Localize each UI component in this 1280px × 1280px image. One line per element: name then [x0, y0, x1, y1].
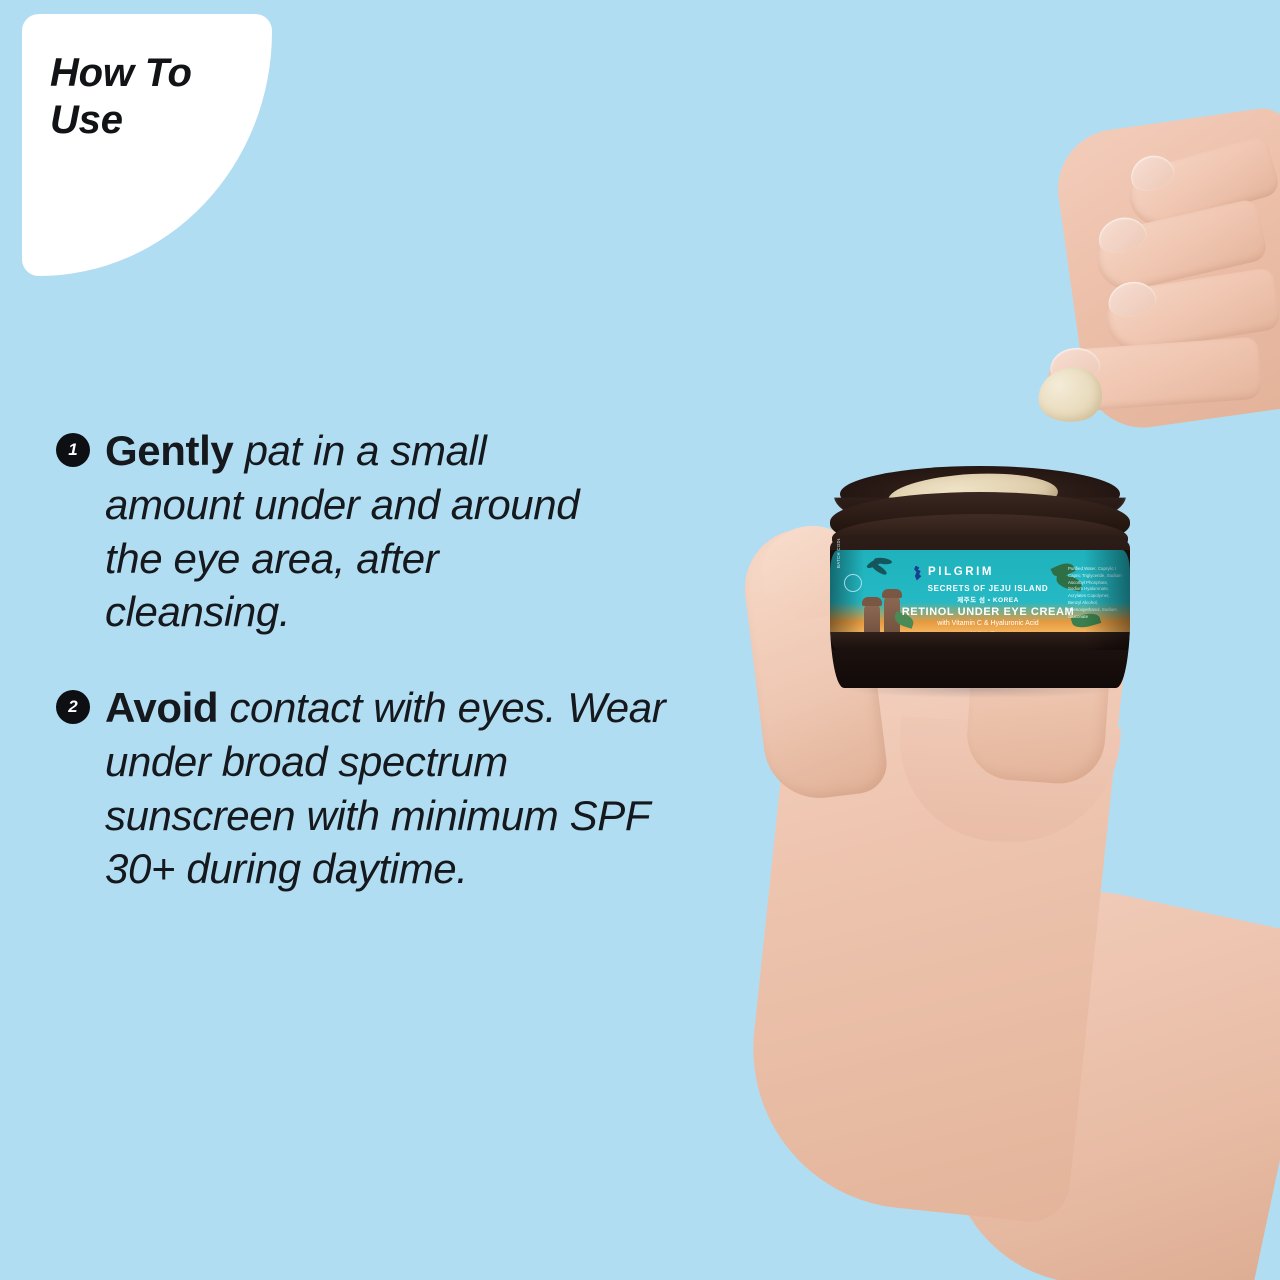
step-text: Gently pat in a small amount under and a… [105, 424, 610, 639]
instruction-step: 2 Avoid contact with eyes. Wear under br… [56, 681, 736, 896]
step-number-badge: 2 [56, 690, 90, 724]
how-to-use-title-line1: How To [50, 50, 240, 97]
ingredients-text: Purified Water, Caprylic / Capric Trigly… [1068, 566, 1122, 621]
step-number-badge: 1 [56, 433, 90, 467]
product-origin: 제주도 섬 • KOREA [898, 594, 1078, 604]
product-subtitle: with Vitamin C & Hyaluronic Acid [882, 620, 1094, 627]
product-name: RETINOL UNDER EYE CREAM [882, 606, 1094, 618]
instruction-step: 1 Gently pat in a small amount under and… [56, 424, 736, 639]
label-bottom-band [830, 632, 1130, 650]
product-tagline: SECRETS OF JEJU ISLAND [898, 584, 1078, 593]
step-lead-word: Avoid [105, 684, 218, 731]
step-lead-word: Gently [105, 427, 233, 474]
how-to-use-badge: How To Use [22, 14, 272, 276]
product-photo: BATCH CODE [690, 100, 1280, 1280]
fingers-with-cream [1010, 120, 1280, 440]
pilgrim-logo-icon [912, 566, 924, 581]
step-text: Avoid contact with eyes. Wear under broa… [105, 681, 705, 896]
jar-body: BATCH CODE [830, 538, 1130, 688]
statue-hat [862, 597, 882, 606]
how-to-use-title-line2: Use [50, 97, 240, 144]
instruction-steps-list: 1 Gently pat in a small amount under and… [56, 424, 736, 938]
certification-seal-icon [844, 574, 862, 592]
product-label: BATCH CODE [830, 550, 1130, 650]
brand-name: PILGRIM [928, 567, 994, 579]
product-jar: BATCH CODE [830, 452, 1130, 692]
product-how-to-use-graphic: How To Use 1 Gently pat in a small amoun… [0, 0, 1280, 1280]
brand-lockup: PILGRIM [912, 564, 1062, 582]
palm-tree-icon [866, 558, 896, 584]
batch-code-text: BATCH CODE [836, 538, 841, 568]
how-to-use-title: How To Use [50, 50, 240, 144]
